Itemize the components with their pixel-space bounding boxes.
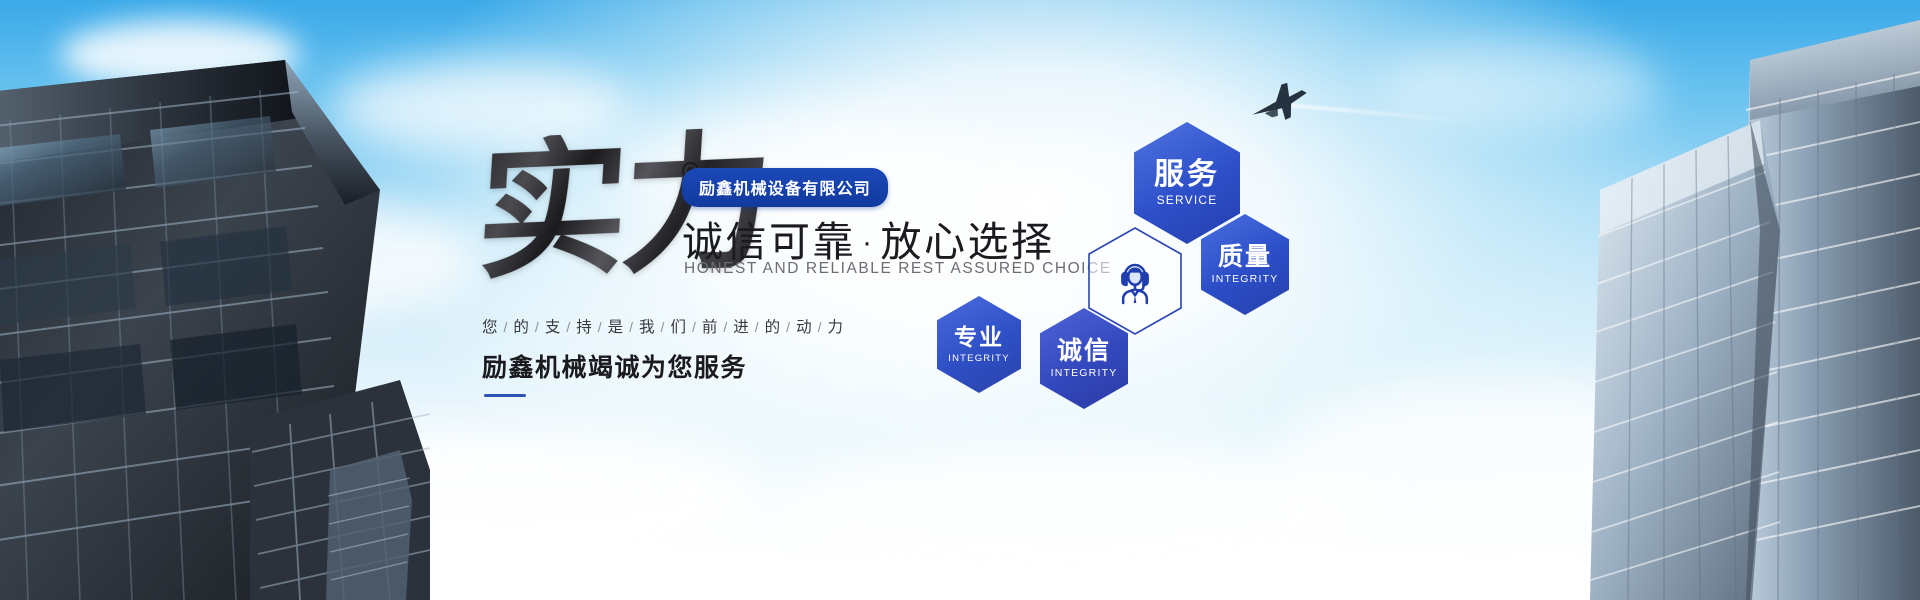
slogan-char: 前 (702, 319, 718, 336)
accent-underline (484, 394, 526, 397)
hero-banner: 实力 励鑫机械设备有限公司 诚信可靠·放心选择 HONEST AND RELIA… (0, 0, 1920, 600)
slogan-char: 进 (733, 319, 749, 336)
slogan-separator: / (623, 319, 639, 335)
slogan-char: 的 (765, 319, 781, 336)
slogan-separator: / (812, 319, 828, 335)
hexagon-badge-quality[interactable]: 质量 INTEGRITY (1201, 214, 1289, 315)
slogan-separator: / (592, 319, 608, 335)
slogan-char: 们 (670, 319, 686, 336)
slogan-char: 动 (796, 319, 812, 336)
slogan-separator: / (780, 319, 796, 335)
headline-left: 诚信可靠 (682, 219, 856, 265)
hexagon-label-en: SERVICE (1157, 193, 1218, 207)
headline-right: 放心选择 (881, 219, 1055, 265)
slogan-separator: / (686, 319, 702, 335)
slogan-separator: / (529, 319, 545, 335)
slogan-char: 您 (482, 319, 498, 336)
hexagon-label-cn: 专业 (954, 325, 1004, 349)
headline: 诚信可靠·放心选择 (682, 208, 1055, 268)
slogan-separator: / (498, 319, 514, 335)
hexagon-label-cn: 诚信 (1057, 338, 1111, 364)
slogan-separator: / (560, 319, 576, 335)
headline-separator: · (856, 226, 881, 259)
slogan-separator: / (717, 319, 733, 335)
slogan-separator: / (655, 319, 671, 335)
hexagon-label-cn: 质量 (1218, 244, 1272, 270)
slogan-char: 力 (827, 319, 843, 336)
slogan-bold-line: 励鑫机械竭诚为您服务 (482, 348, 747, 384)
slogan-char: 我 (639, 319, 655, 336)
slogan-char: 是 (608, 319, 624, 336)
headset-operator-icon (1108, 254, 1162, 308)
hexagon-label-en: INTEGRITY (1212, 273, 1279, 285)
hexagon-label-en: INTEGRITY (1051, 367, 1118, 379)
company-badge: 励鑫机械设备有限公司 (682, 168, 888, 207)
slogan-separator: / (749, 319, 765, 335)
hexagon-label-en: INTEGRITY (948, 353, 1009, 364)
skyscraper-right-image (1450, 0, 1920, 600)
headline-subtitle-en: HONEST AND RELIABLE REST ASSURED CHOICE (684, 260, 1112, 278)
slogan-char: 支 (545, 319, 561, 336)
hexagon-label-cn: 服务 (1154, 159, 1220, 191)
slogan-char: 的 (513, 319, 529, 336)
skyscraper-left-image (0, 0, 430, 600)
slogan-char: 持 (576, 319, 592, 336)
airplane-icon (1247, 82, 1311, 128)
hexagon-badge-operator[interactable] (1087, 226, 1183, 336)
slogan-slash-line: 您/的/支/持/是/我/们/前/进/的/动/力 (482, 315, 843, 337)
